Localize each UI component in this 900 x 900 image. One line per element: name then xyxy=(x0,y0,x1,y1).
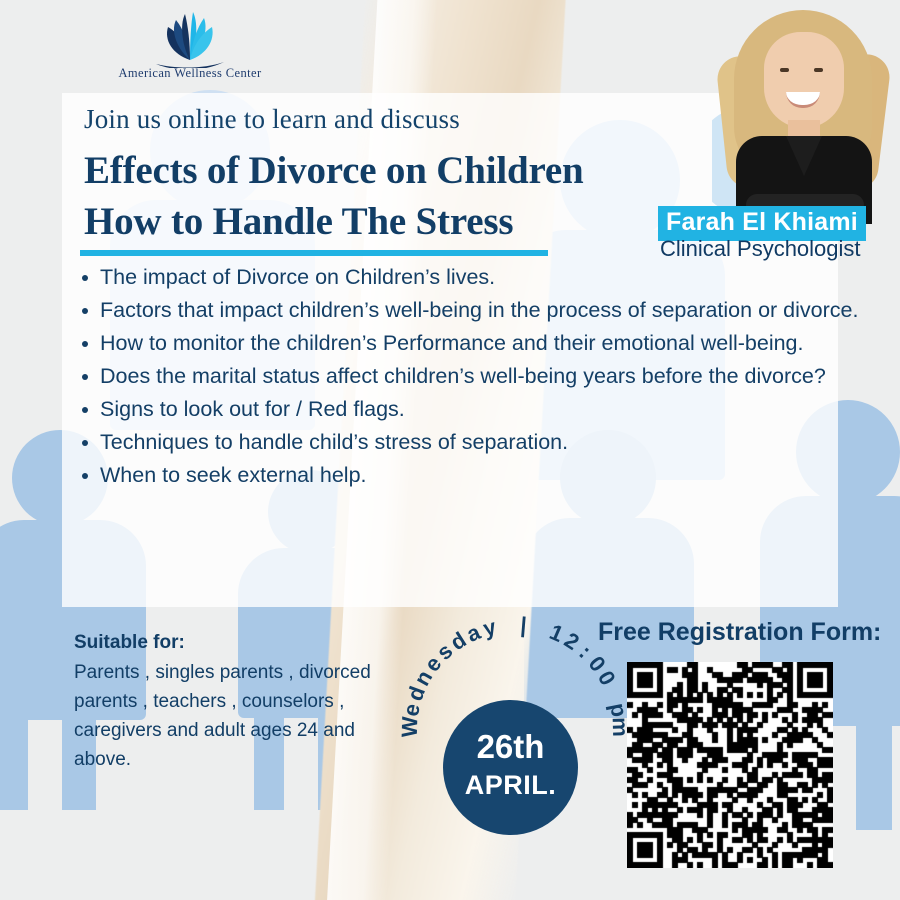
topic-item: Does the marital status affect children’… xyxy=(78,361,868,392)
registration-title: Free Registration Form: xyxy=(598,618,881,647)
arc-char xyxy=(600,686,627,701)
date-badge: 26th APRIL. xyxy=(443,700,578,835)
lotus-fan-icon xyxy=(60,8,320,68)
kicker-text: Join us online to learn and discuss xyxy=(84,104,460,135)
topic-item: Factors that impact children’s well-bein… xyxy=(78,295,868,326)
page-title-line2: How to Handle The Stress xyxy=(84,199,513,244)
speaker-role: Clinical Psychologist xyxy=(660,236,861,262)
topic-item: How to monitor the children’s Performanc… xyxy=(78,328,868,359)
page-title-line1: Effects of Divorce on Children xyxy=(84,148,584,193)
date-month: APRIL. xyxy=(443,770,578,801)
speaker-photo xyxy=(712,0,890,224)
title-divider xyxy=(80,250,548,256)
topic-item: Techniques to handle child’s stress of s… xyxy=(78,427,868,458)
audience-heading: Suitable for: xyxy=(74,632,185,654)
arc-char: W xyxy=(397,716,424,738)
poster-canvas: American Wellness Center Join us online … xyxy=(0,0,900,900)
topic-item: When to seek external help. xyxy=(78,460,868,491)
topic-item: Signs to look out for / Red flags. xyxy=(78,394,868,425)
qr-code-icon[interactable] xyxy=(627,662,833,868)
brand-logo: American Wellness Center xyxy=(60,8,320,94)
topics-list: The impact of Divorce on Children’s live… xyxy=(78,262,868,493)
brand-name: American Wellness Center xyxy=(60,66,320,81)
topic-item: The impact of Divorce on Children’s live… xyxy=(78,262,868,293)
audience-body: Parents , singles parents , divorced par… xyxy=(74,658,394,774)
date-day: 26th xyxy=(443,728,578,766)
